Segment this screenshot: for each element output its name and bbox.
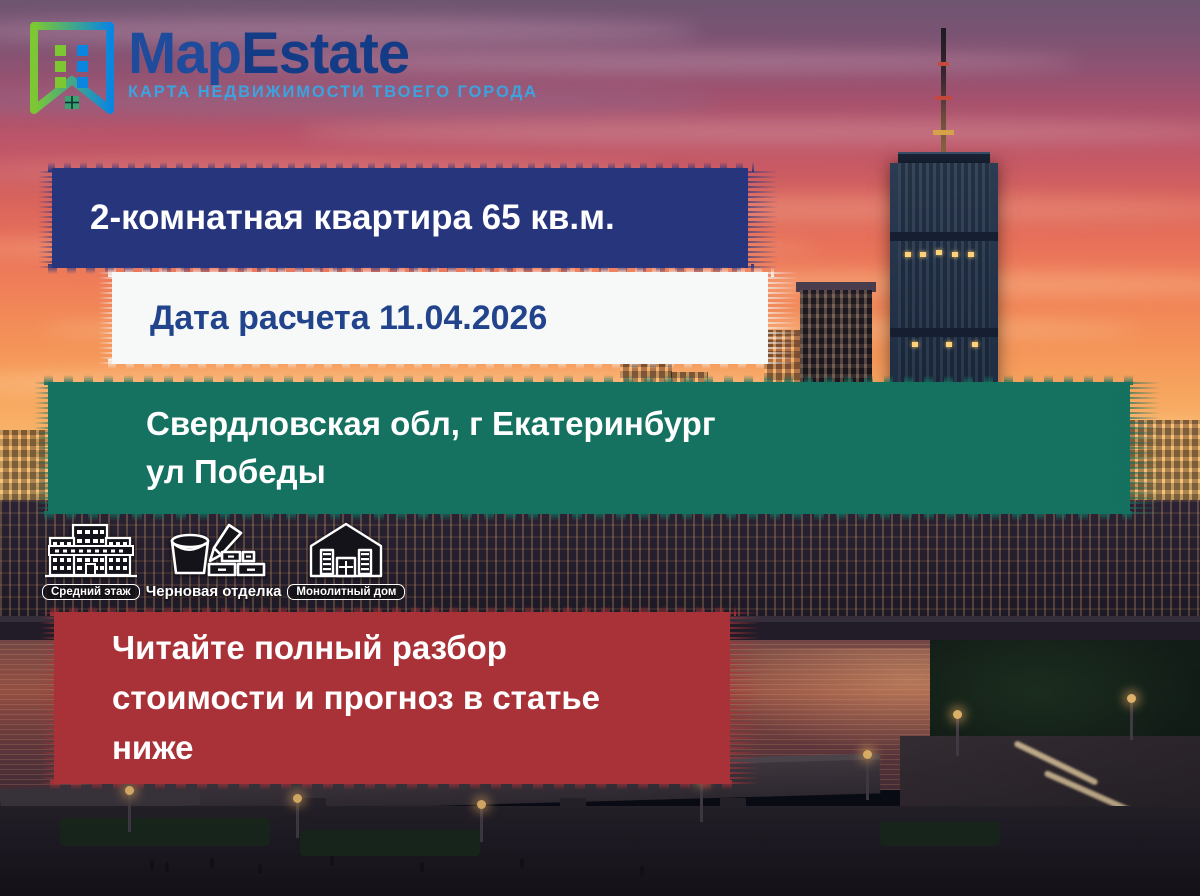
brand-name-estate: Estate xyxy=(241,21,409,86)
address-line-street: ул Победы xyxy=(146,448,716,496)
property-title-text: 2-комнатная квартира 65 кв.м. xyxy=(90,198,615,238)
badge-finish-label: Черновая отделка xyxy=(146,583,282,600)
house-icon xyxy=(303,520,389,582)
cta-line-2: стоимости и прогноз в статье xyxy=(112,673,600,723)
badge-finish[interactable]: Черновая отделка xyxy=(146,519,282,600)
brand-tagline: КАРТА НЕДВИЖИМОСТИ ТВОЕГО ГОРОДА xyxy=(128,83,538,102)
address-banner: Свердловская обл, г Екатеринбург ул Побе… xyxy=(34,382,1160,514)
calculation-date-banner: Дата расчета 11.04.2026 xyxy=(98,272,798,364)
brand-wordmark: MapEstate КАРТА НЕДВИЖИМОСТИ ТВОЕГО ГОРО… xyxy=(128,26,538,102)
badge-floor[interactable]: Средний этаж xyxy=(42,520,140,600)
address-line-region: Свердловская обл, г Екатеринбург xyxy=(146,400,716,448)
bookmark-building-icon xyxy=(30,22,114,114)
property-title-banner: 2-комнатная квартира 65 кв.м. xyxy=(38,168,778,268)
badge-floor-label: Средний этаж xyxy=(42,584,140,600)
promo-card: MapEstate КАРТА НЕДВИЖИМОСТИ ТВОЕГО ГОРО… xyxy=(0,0,1200,896)
cta-banner[interactable]: Читайте полный разбор стоимости и прогно… xyxy=(40,612,760,784)
badge-construction[interactable]: Монолитный дом xyxy=(287,520,405,600)
paint-bucket-trowel-icon xyxy=(158,519,270,581)
cta-text-block: Читайте полный разбор стоимости и прогно… xyxy=(112,623,600,773)
apartment-building-icon xyxy=(43,520,139,582)
cta-line-1: Читайте полный разбор xyxy=(112,623,600,673)
cta-line-3: ниже xyxy=(112,723,600,773)
feature-badges: Средний этаж xyxy=(42,516,372,600)
brand-logo[interactable]: MapEstate КАРТА НЕДВИЖИМОСТИ ТВОЕГО ГОРО… xyxy=(30,22,538,114)
badge-construction-label: Монолитный дом xyxy=(287,584,405,600)
brand-name: MapEstate xyxy=(128,26,538,81)
brand-name-map: Map xyxy=(128,21,241,86)
address-text-block: Свердловская обл, г Екатеринбург ул Побе… xyxy=(146,400,716,496)
calculation-date-text: Дата расчета 11.04.2026 xyxy=(150,299,547,338)
